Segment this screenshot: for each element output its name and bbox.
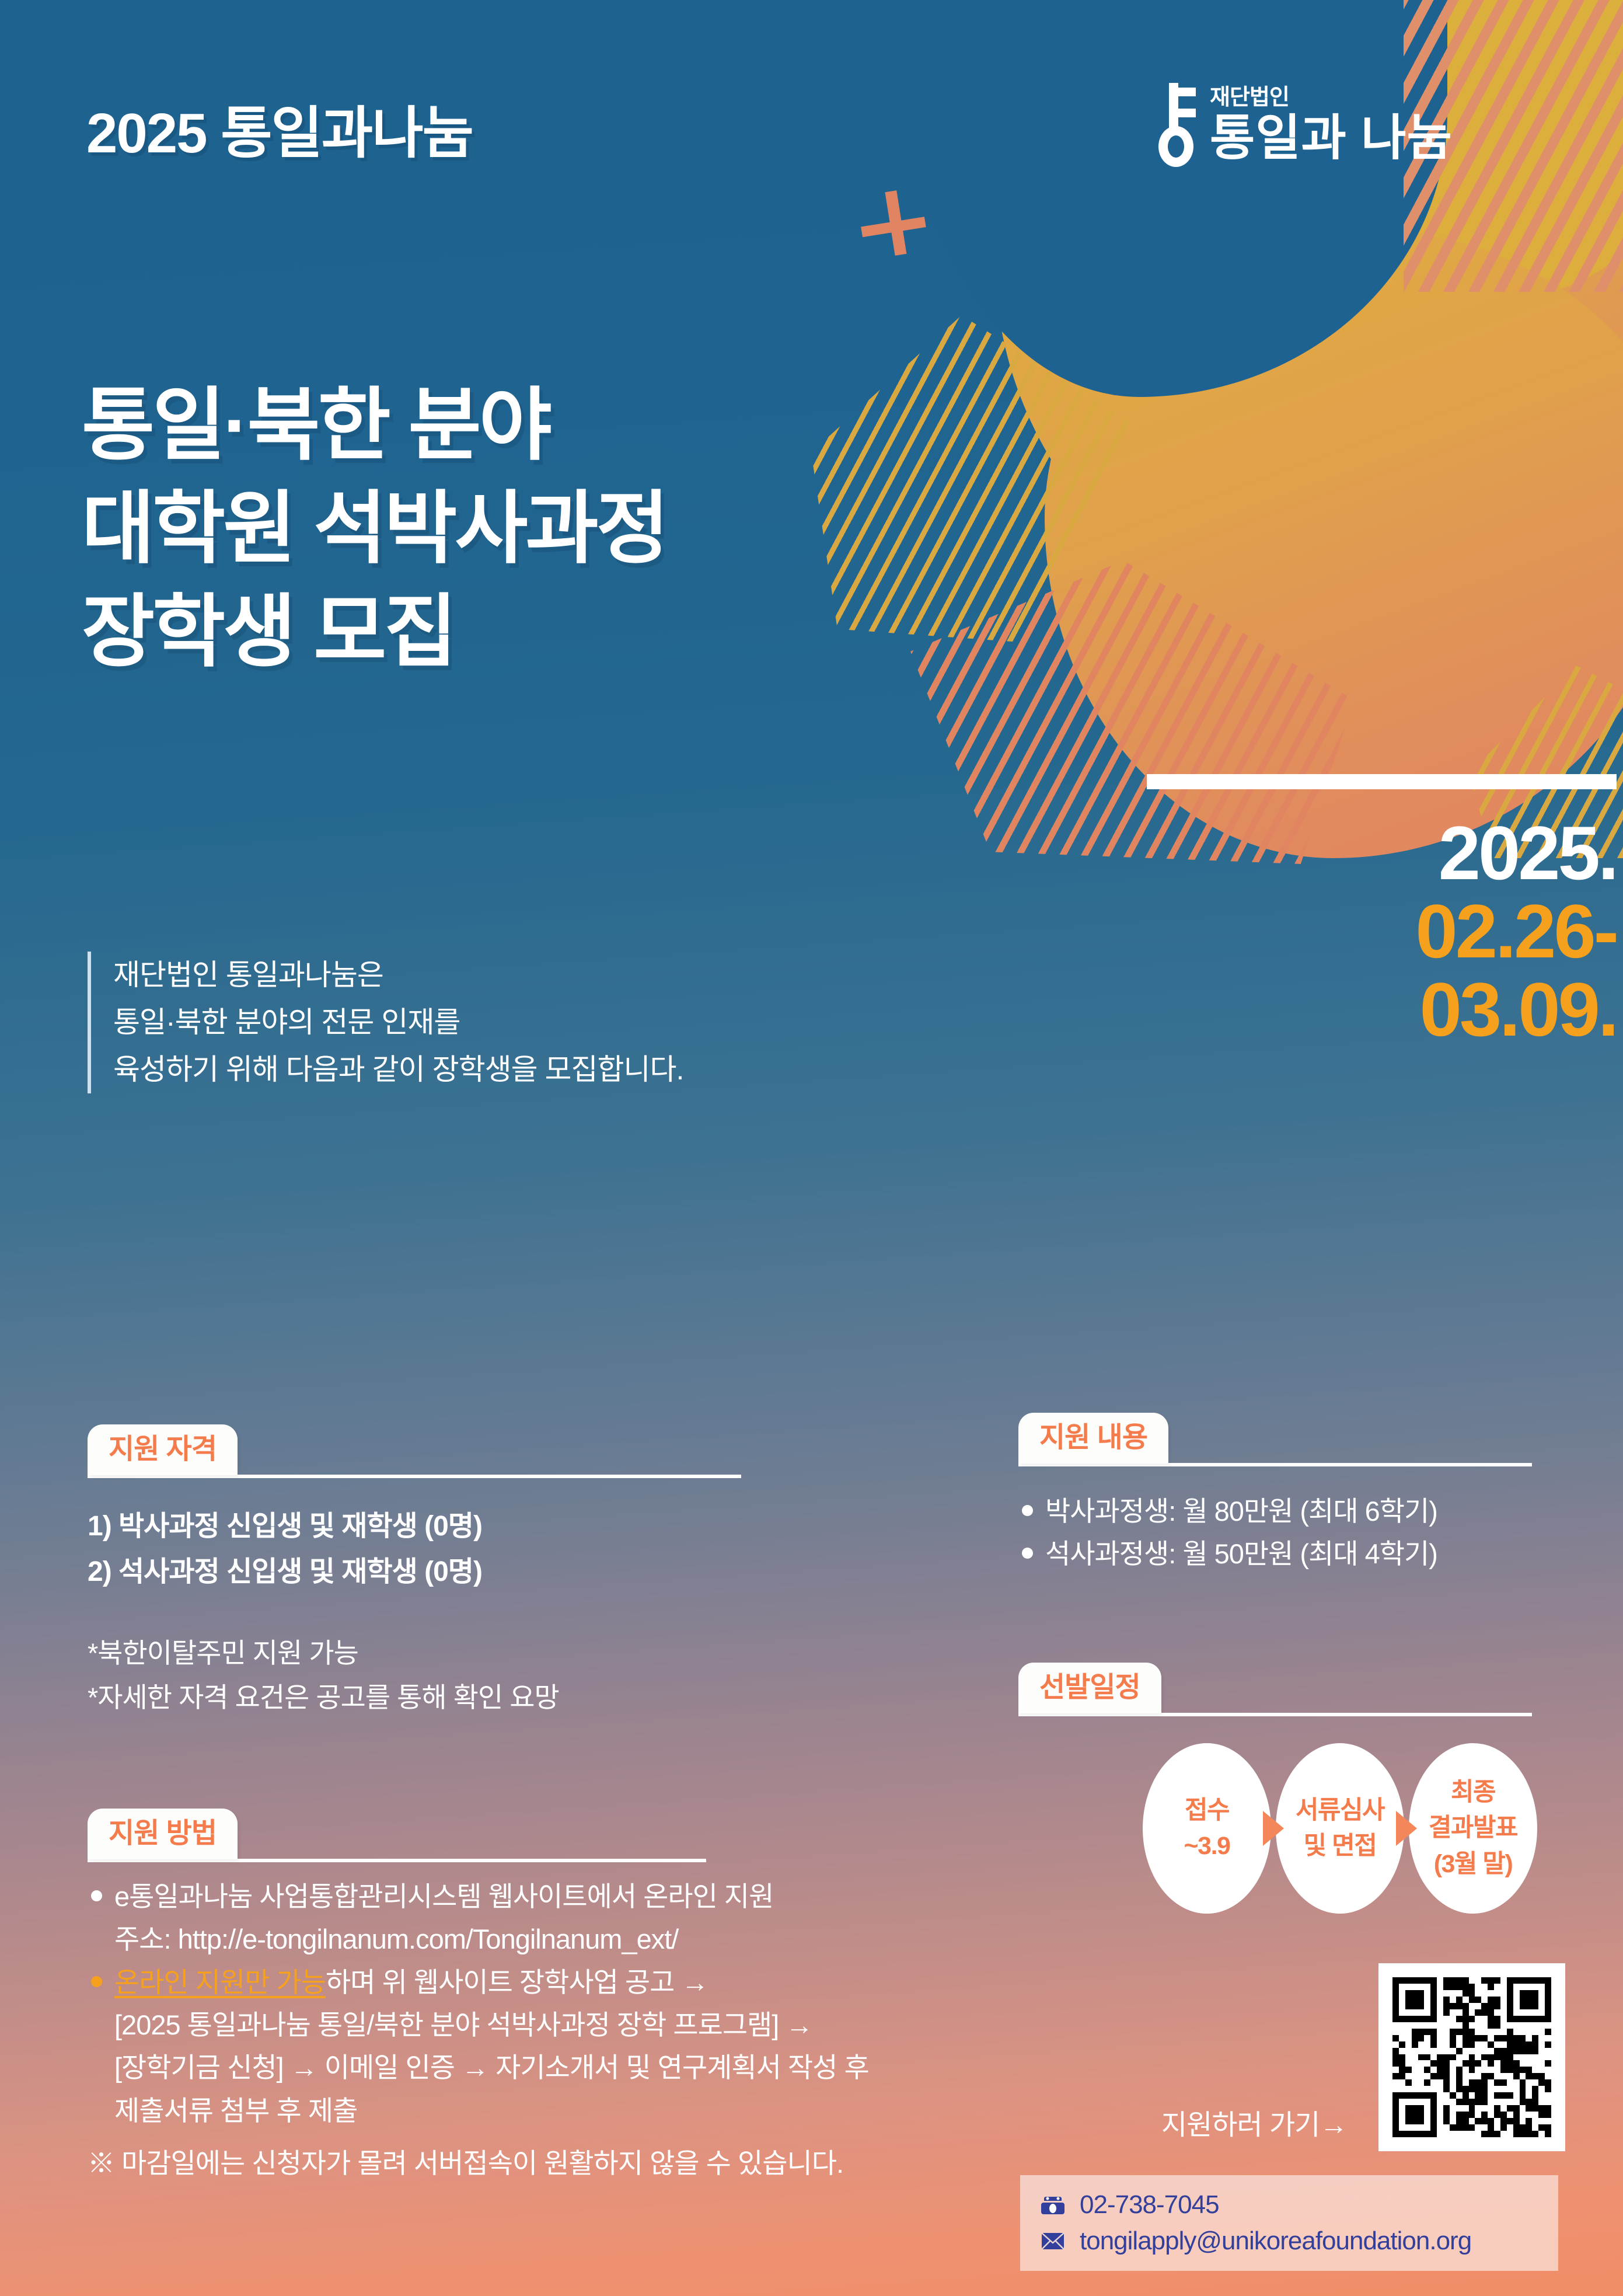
plus-decoration-icon [850, 184, 951, 284]
eligibility-list: 1) 박사과정 신입생 및 재학생 (0명) 2) 석사과정 신입생 및 재학생… [88, 1504, 741, 1595]
section-badge-howto: 지원 방법 [88, 1809, 238, 1859]
hero-title-line-3: 장학생 모집 [82, 580, 667, 684]
step-label-line: 결과발표 [1429, 1810, 1517, 1846]
contact-phone-row: 02-738-7045 [1040, 2190, 1538, 2220]
telephone-icon [1040, 2192, 1066, 2218]
hero-title-line-1: 통일·북한 분야 [82, 374, 667, 477]
section-badge-eligibility: 지원 자격 [88, 1424, 238, 1475]
schedule-flow: 접수 ~3.9 서류심사 및 면접 최종 결과발표 (3월 말) [1143, 1743, 1537, 1914]
intro-paragraph: 재단법인 통일과나눔은 통일·북한 분야의 전문 인재를 육성하기 위해 다음과… [88, 952, 683, 1093]
list-item: e통일과나눔 사업통합관리시스템 웹사이트에서 온라인 지원 주소: http:… [88, 1875, 1080, 1961]
eligibility-notes: *북한이탈주민 지원 가능 *자세한 자격 요건은 공고를 통해 확인 요망 [88, 1631, 741, 1720]
date-start: 02.26- [1156, 893, 1617, 971]
step-label-line: (3월 말) [1434, 1846, 1513, 1882]
howto-list: e통일과나눔 사업통합관리시스템 웹사이트에서 온라인 지원 주소: http:… [88, 1875, 1080, 2132]
contact-phone-number[interactable]: 02-738-7045 [1080, 2190, 1219, 2220]
apply-cta-label: 지원하러 가기→ [1161, 2102, 1347, 2142]
intro-line-3: 육성하기 위해 다음과 같이 장학생을 모집합니다. [113, 1046, 683, 1093]
schedule-step-2: 서류심사 및 면접 [1276, 1743, 1404, 1914]
logo-subtitle: 재단법인 [1210, 86, 1453, 109]
key-icon [1158, 81, 1195, 168]
contact-email-address[interactable]: tongilapply@unikoreafoundation.org [1080, 2227, 1471, 2256]
hero-title: 통일·북한 분야 대학원 석박사과정 장학생 모집 [82, 374, 667, 683]
section-support: 지원 내용 박사과정생: 월 80만원 (최대 6학기) 석사과정생: 월 50… [1018, 1413, 1532, 1576]
list-item: 2) 석사과정 신입생 및 재학생 (0명) [88, 1549, 741, 1595]
page-title: 2025 통일과나눔 [86, 88, 473, 169]
section-eligibility: 지원 자격 1) 박사과정 신입생 및 재학생 (0명) 2) 석사과정 신입생… [88, 1424, 741, 1720]
section-howto: 지원 방법 [88, 1809, 706, 1862]
foundation-logo: 재단법인 통일과 나눔 [1158, 81, 1453, 168]
step-label-line: 최종 [1451, 1775, 1495, 1810]
howto-step-line: [장학기금 신청] → 이메일 인증 → 자기소개서 및 연구계획서 작성 후 [114, 2046, 1080, 2089]
contact-bar: 02-738-7045 tongilapply@unikoreafoundati… [1020, 2175, 1558, 2271]
howto-highlight-link[interactable]: 온라인 지원만 가능 [114, 1967, 326, 1998]
logo-name: 통일과 나눔 [1210, 113, 1453, 162]
hero-title-line-2: 대학원 석박사과정 [82, 477, 667, 580]
step-label-line: 서류심사 [1296, 1793, 1384, 1828]
intro-line-1: 재단법인 통일과나눔은 [113, 952, 683, 999]
note-line: *북한이탈주민 지원 가능 [88, 1631, 741, 1675]
list-item: 온라인 지원만 가능하며 위 웹사이트 장학사업 공고 → [2025 통일과나… [88, 1961, 1080, 2132]
howto-url[interactable]: 주소: http://e-tongilnanum.com/Tongilnanum… [114, 1918, 1080, 1960]
section-badge-support: 지원 내용 [1018, 1413, 1168, 1464]
date-divider-bar [1147, 774, 1617, 789]
step-label-line: 접수 [1185, 1793, 1229, 1828]
list-item: 박사과정생: 월 80만원 (최대 6학기) [1018, 1490, 1532, 1532]
howto-bullet1-text: e통일과나눔 사업통합관리시스템 웹사이트에서 온라인 지원 [114, 1881, 773, 1912]
poster-canvas: 2025 통일과나눔 재단법인 통일과 나눔 통일·북한 분야 대학원 석박사과… [0, 0, 1623, 2296]
step-label-line: 및 면접 [1304, 1828, 1377, 1864]
qr-code-matrix [1392, 1977, 1551, 2137]
howto-step-line: 제출서류 첨부 후 제출 [114, 2089, 1080, 2132]
step-label-line: ~3.9 [1184, 1828, 1230, 1864]
section-badge-schedule: 선발일정 [1018, 1663, 1161, 1713]
schedule-step-3: 최종 결과발표 (3월 말) [1409, 1743, 1537, 1914]
list-item: 석사과정생: 월 50만원 (최대 4학기) [1018, 1532, 1532, 1575]
date-end: 03.09. [1156, 971, 1617, 1049]
howto-step-line: [2025 통일과나눔 통일/북한 분야 석박사과정 장학 프로그램] → [114, 2004, 1080, 2046]
envelope-icon [1040, 2228, 1066, 2254]
date-year: 2025. [1156, 814, 1617, 893]
arrow-right-icon [1396, 1811, 1417, 1846]
section-schedule: 선발일정 [1018, 1663, 1532, 1716]
contact-email-row: tongilapply@unikoreafoundation.org [1040, 2227, 1538, 2256]
list-item: 1) 박사과정 신입생 및 재학생 (0명) [88, 1504, 741, 1549]
howto-footnote: ※ 마감일에는 신청자가 몰려 서버접속이 원활하지 않을 수 있습니다. [88, 2141, 1080, 2186]
arrow-right-icon [1263, 1811, 1284, 1846]
howto-bullet2-rest: 하며 위 웹사이트 장학사업 공고 → [326, 1967, 708, 1998]
schedule-step-1: 접수 ~3.9 [1143, 1743, 1271, 1914]
support-list: 박사과정생: 월 80만원 (최대 6학기) 석사과정생: 월 50만원 (최대… [1018, 1490, 1532, 1576]
note-line: *자세한 자격 요건은 공고를 통해 확인 요망 [88, 1675, 741, 1720]
intro-line-2: 통일·북한 분야의 전문 인재를 [113, 999, 683, 1046]
qr-code[interactable] [1378, 1963, 1565, 2151]
recruitment-period: 2025. 02.26- 03.09. [1156, 814, 1617, 1049]
